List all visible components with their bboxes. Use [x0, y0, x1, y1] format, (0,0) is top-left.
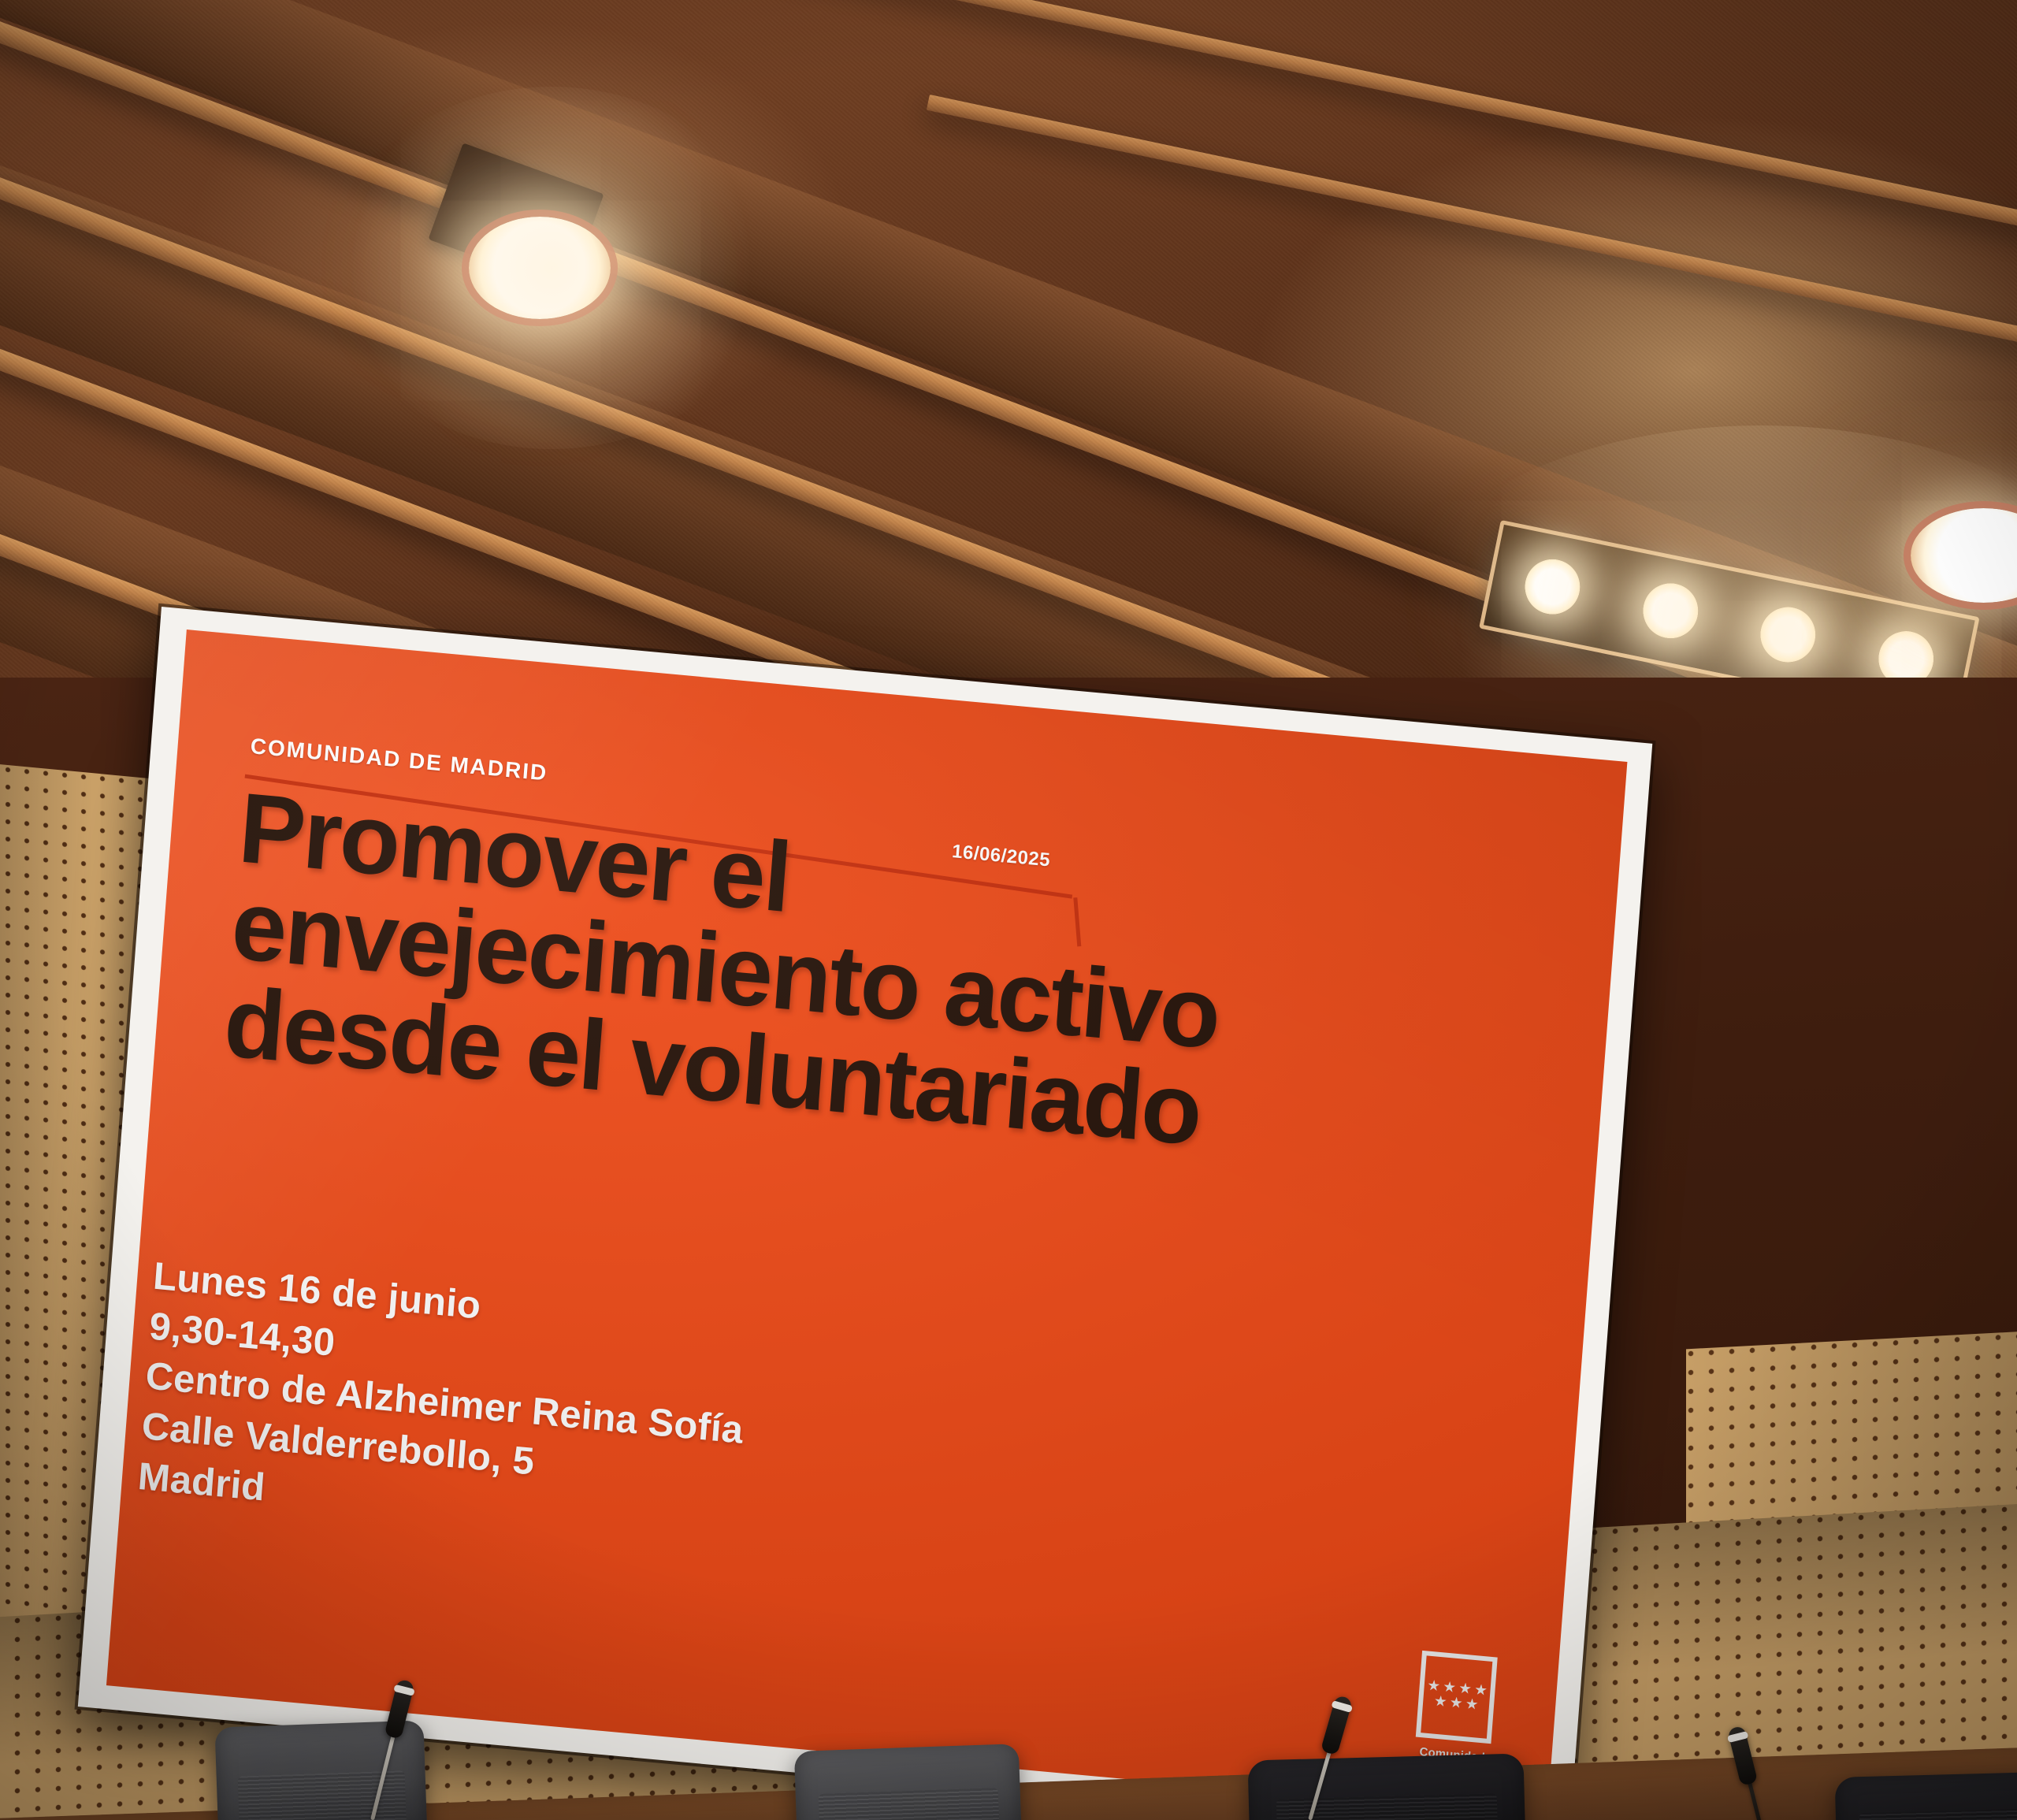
ceiling-baffle	[927, 95, 2017, 405]
conference-room-photo: COMUNIDAD DE MADRID 16/06/2025 Promover …	[0, 0, 2017, 1820]
spotlight	[1520, 555, 1585, 620]
spotlight	[1638, 578, 1703, 644]
chair	[794, 1744, 1022, 1820]
round-downlight	[1911, 508, 2017, 603]
chair-mesh	[1859, 1808, 2017, 1820]
chair	[1247, 1753, 1525, 1820]
chair	[1835, 1771, 2017, 1820]
downlight-rim	[462, 210, 618, 326]
spotlight	[1755, 602, 1821, 667]
chair-mesh	[818, 1788, 999, 1820]
round-downlight	[469, 217, 611, 319]
ceiling-baffle	[769, 0, 2017, 272]
